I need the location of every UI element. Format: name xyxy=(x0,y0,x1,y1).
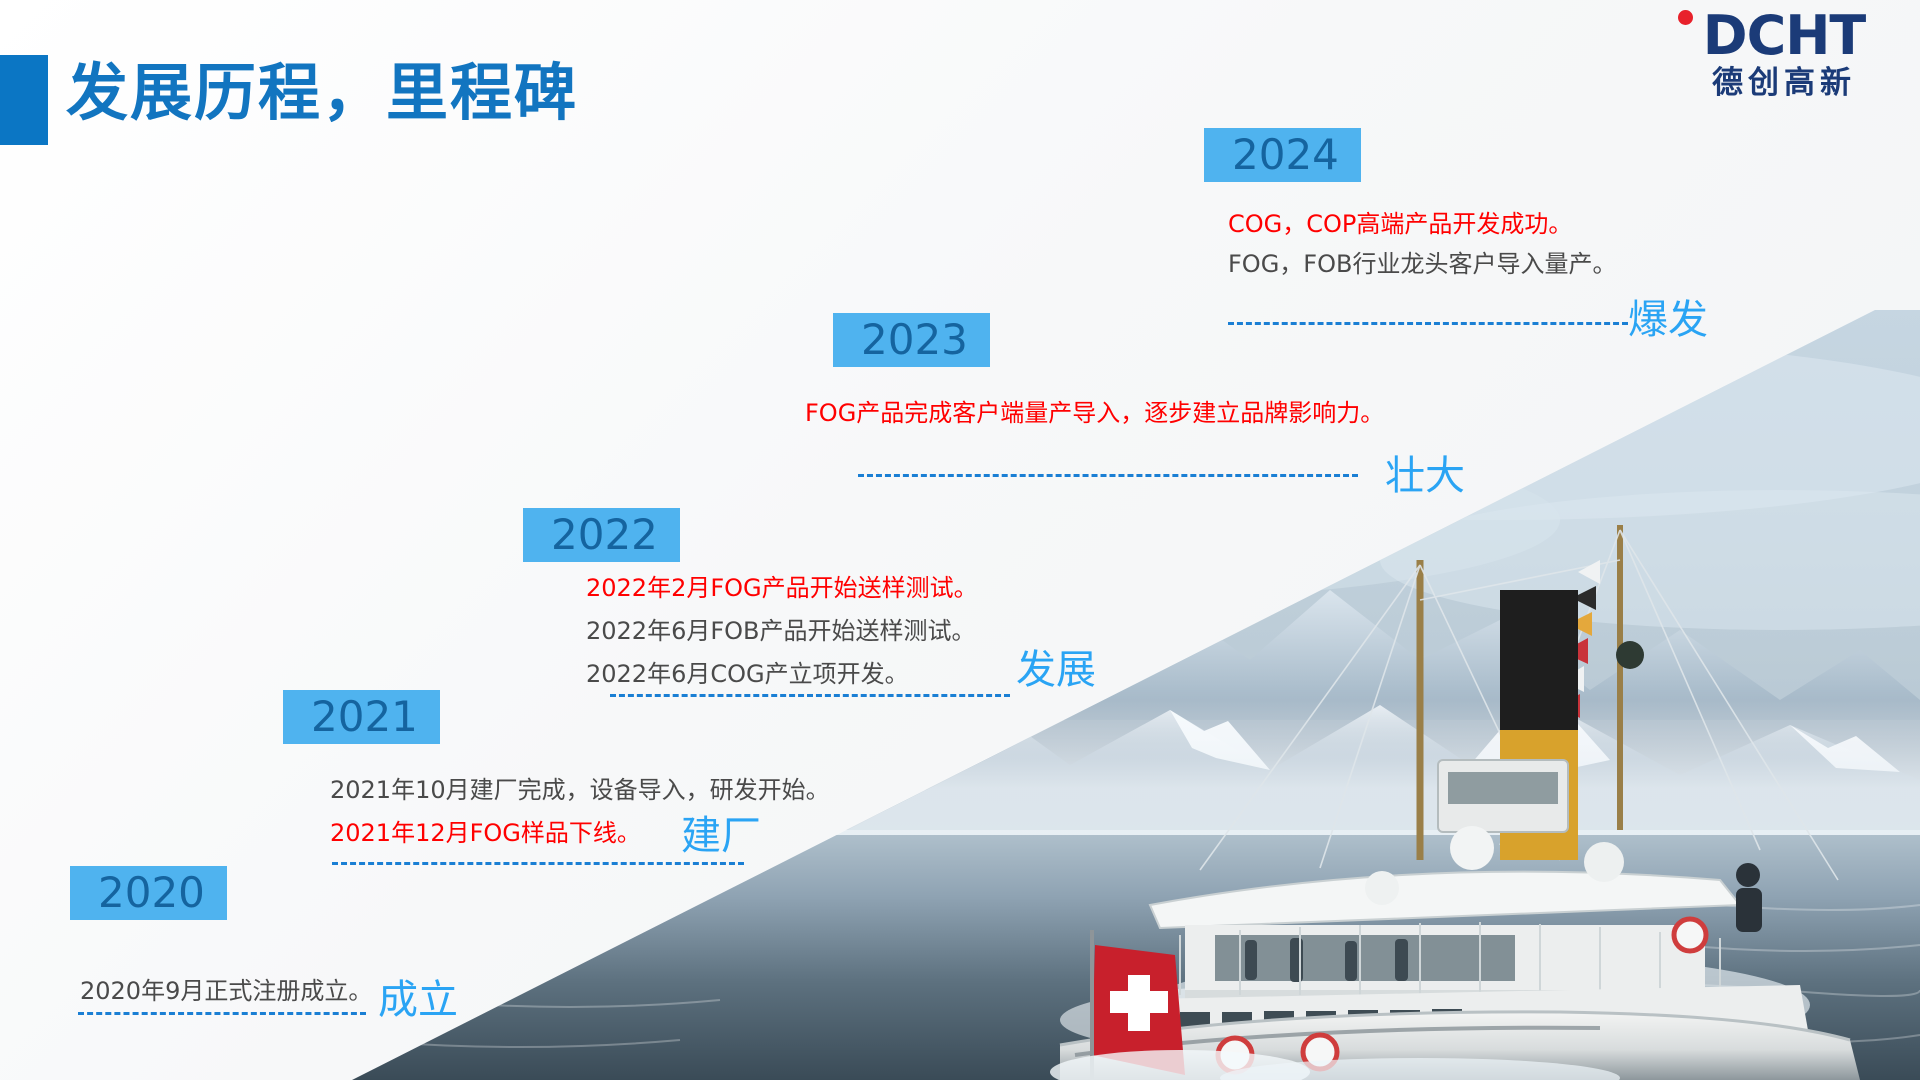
logo-chinese-name: 德创高新 xyxy=(1672,65,1896,101)
year-badge-2022: 2022 xyxy=(523,508,680,562)
milestone-line: 2022年6月COG产立项开发。 xyxy=(586,655,909,693)
logo-wordmark: DCHT xyxy=(1672,8,1896,64)
year-badge-2024: 2024 xyxy=(1204,128,1361,182)
phase-label-2021: 建厂 xyxy=(681,812,761,860)
milestone-line: COG，COP高端产品开发成功。 xyxy=(1228,205,1572,243)
phase-label-2024: 爆发 xyxy=(1628,296,1708,344)
title-accent-bar xyxy=(0,55,48,145)
logo-red-dot-icon xyxy=(1678,10,1693,25)
milestone-line: 2021年10月建厂完成，设备导入，研发开始。 xyxy=(330,771,830,809)
page-title: 发展历程，里程碑 xyxy=(66,42,578,132)
dashed-connector xyxy=(332,862,744,865)
lake-steamboat-photo xyxy=(0,0,1920,1080)
photo-diagonal-clip xyxy=(0,0,1920,1080)
year-badge-2021: 2021 xyxy=(283,690,440,744)
logo-wordmark-text: DCHT xyxy=(1703,4,1865,67)
milestone-line: FOG产品完成客户端量产导入，逐步建立品牌影响力。 xyxy=(805,394,1384,432)
milestone-line: 2020年9月正式注册成立。 xyxy=(80,972,372,1010)
milestone-line: 2022年2月FOG产品开始送样测试。 xyxy=(586,569,978,607)
dashed-connector xyxy=(78,1012,366,1015)
milestone-line: 2022年6月FOB产品开始送样测试。 xyxy=(586,612,976,650)
milestone-line: FOG，FOB行业龙头客户导入量产。 xyxy=(1228,245,1616,283)
year-badge-2023: 2023 xyxy=(833,313,990,367)
company-logo: DCHT 德创高新 xyxy=(1672,8,1896,104)
phase-label-2022: 发展 xyxy=(1016,646,1096,694)
phase-label-2020: 成立 xyxy=(378,976,458,1024)
year-badge-2020: 2020 xyxy=(70,866,227,920)
dashed-connector xyxy=(1228,322,1628,325)
dashed-connector xyxy=(610,694,1010,697)
phase-label-2023: 壮大 xyxy=(1385,452,1465,500)
dashed-connector xyxy=(858,474,1358,477)
milestone-line: 2021年12月FOG样品下线。 xyxy=(330,814,641,852)
slide-canvas: 发展历程，里程碑 DCHT 德创高新 2024 COG，COP高端产品开发成功。… xyxy=(0,0,1920,1080)
